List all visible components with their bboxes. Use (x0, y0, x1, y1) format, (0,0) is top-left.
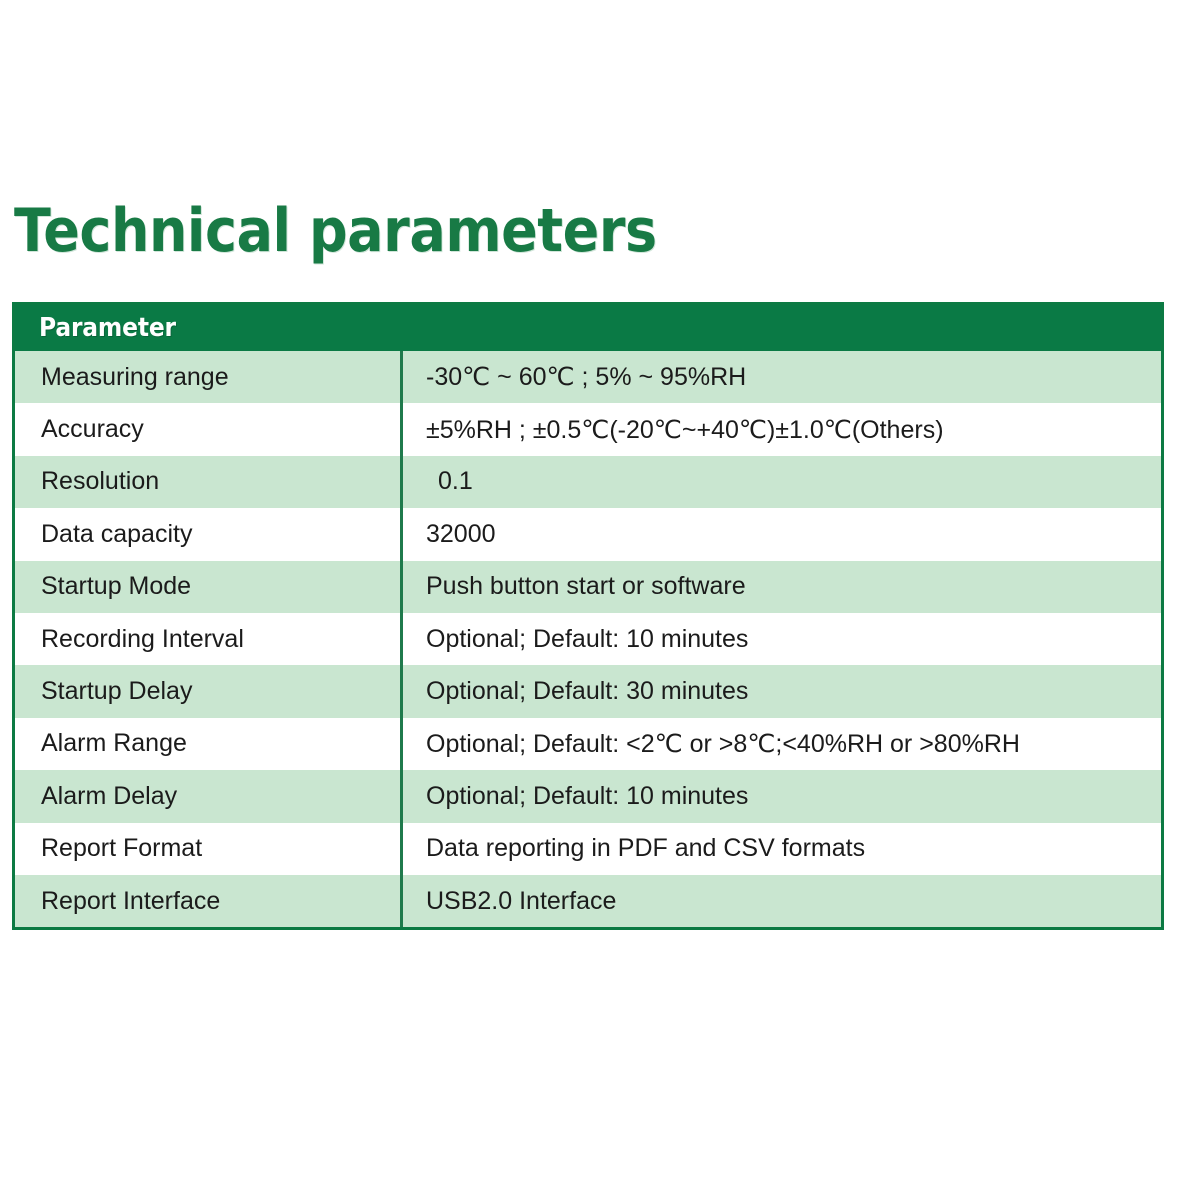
table-cell-value: ±5%RH ; ±0.5℃(-20℃~+40℃)±1.0℃(Others) (400, 415, 1161, 445)
table-row: Resolution0.1 (15, 456, 1161, 508)
table-cell-value: Push button start or software (400, 572, 1161, 601)
table-row: Measuring range-30℃ ~ 60℃ ; 5% ~ 95%RH (15, 351, 1161, 403)
table-cell-value: Optional; Default: 10 minutes (400, 625, 1161, 654)
table-cell-parameter: Startup Delay (15, 677, 400, 706)
table-row: Startup DelayOptional; Default: 30 minut… (15, 665, 1161, 717)
table-cell-parameter: Report Interface (15, 887, 400, 916)
table-cell-parameter: Report Format (15, 834, 400, 863)
table-row: Report FormatData reporting in PDF and C… (15, 823, 1161, 875)
table-body: Measuring range-30℃ ~ 60℃ ; 5% ~ 95%RHAc… (15, 351, 1161, 927)
table-cell-value: 0.1 (400, 467, 1161, 496)
table-cell-value: 32000 (400, 520, 1161, 549)
page-root: Technical parameters Parameter Measuring… (0, 0, 1200, 1200)
table-cell-parameter: Measuring range (15, 363, 400, 392)
table-cell-value: Optional; Default: <2℃ or >8℃;<40%RH or … (400, 729, 1161, 759)
page-title: Technical parameters (14, 198, 657, 264)
table-row: Recording IntervalOptional; Default: 10 … (15, 613, 1161, 665)
table-row: Data capacity32000 (15, 508, 1161, 560)
technical-parameters-table: Parameter Measuring range-30℃ ~ 60℃ ; 5%… (12, 302, 1164, 930)
table-cell-parameter: Data capacity (15, 520, 400, 549)
table-row: Alarm DelayOptional; Default: 10 minutes (15, 770, 1161, 822)
table-cell-parameter: Resolution (15, 467, 400, 496)
table-row: Report InterfaceUSB2.0 Interface (15, 875, 1161, 927)
table-cell-value: Optional; Default: 10 minutes (400, 782, 1161, 811)
table-cell-parameter: Alarm Delay (15, 782, 400, 811)
table-header-row: Parameter (15, 305, 1161, 351)
table-cell-parameter: Recording Interval (15, 625, 400, 654)
table-header-parameter: Parameter (39, 313, 176, 343)
table-cell-value: Optional; Default: 30 minutes (400, 677, 1161, 706)
table-cell-parameter: Alarm Range (15, 729, 400, 758)
table-cell-parameter: Startup Mode (15, 572, 400, 601)
table-row: Accuracy±5%RH ; ±0.5℃(-20℃~+40℃)±1.0℃(Ot… (15, 403, 1161, 455)
table-row: Startup ModePush button start or softwar… (15, 561, 1161, 613)
table-cell-value: Data reporting in PDF and CSV formats (400, 834, 1161, 863)
table-cell-parameter: Accuracy (15, 415, 400, 444)
table-cell-value: -30℃ ~ 60℃ ; 5% ~ 95%RH (400, 362, 1161, 392)
table-row: Alarm RangeOptional; Default: <2℃ or >8℃… (15, 718, 1161, 770)
table-cell-value: USB2.0 Interface (400, 887, 1161, 916)
